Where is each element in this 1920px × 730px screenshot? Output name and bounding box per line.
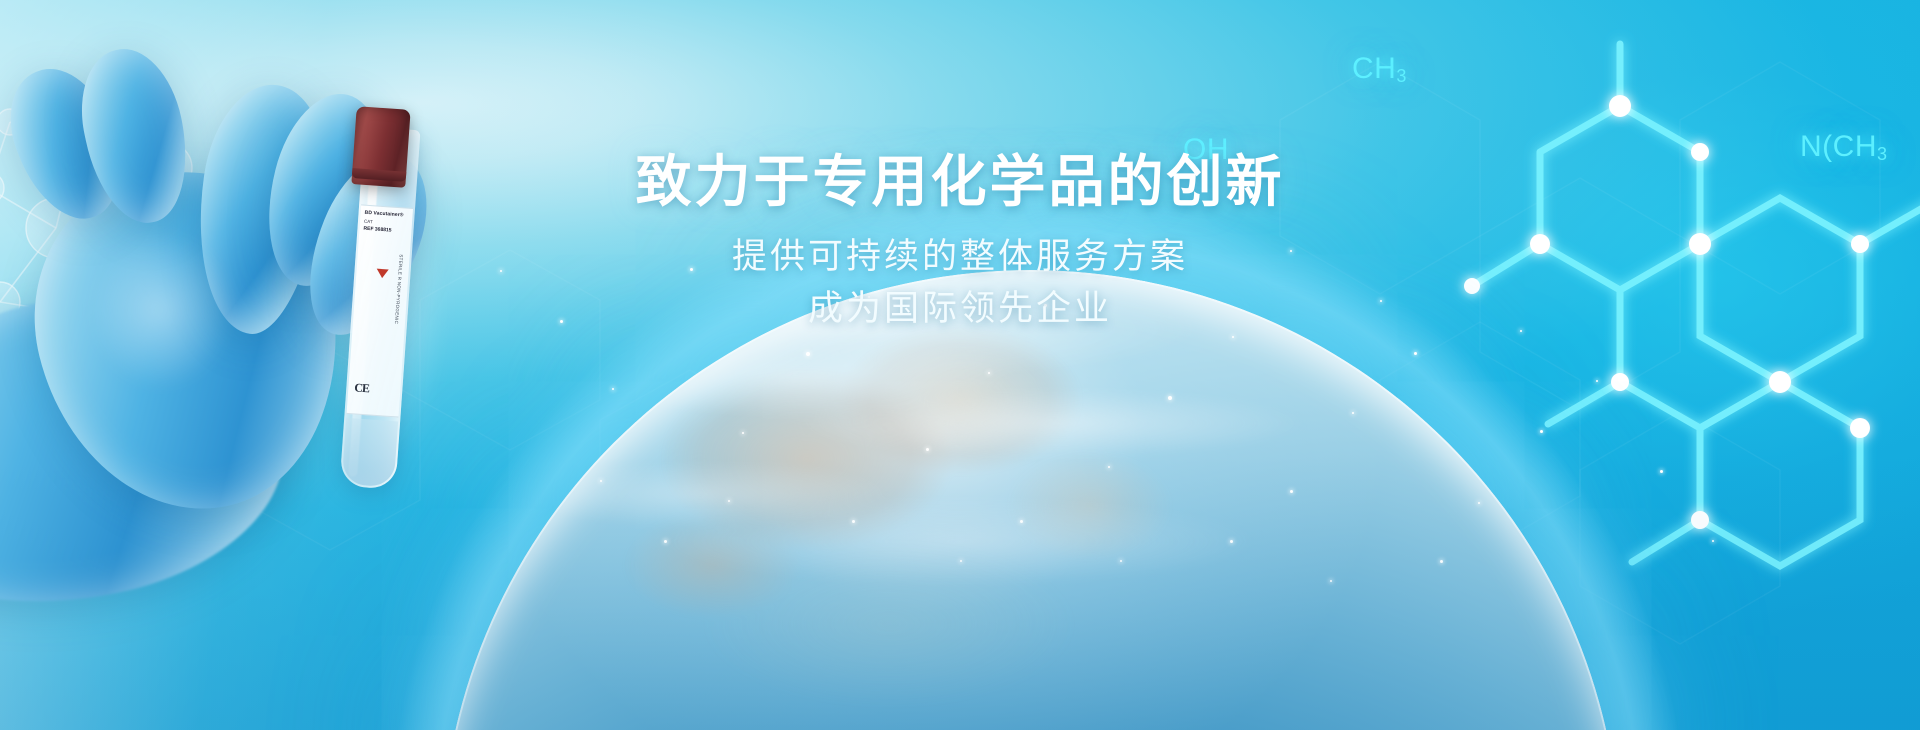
methyl-group-subscript: 3 <box>1396 66 1407 86</box>
methyl-group-text: CH <box>1352 52 1396 85</box>
methyl-group-label: CH3 <box>1352 52 1407 87</box>
page-title: 致力于专用化学品的创新 <box>0 150 1920 215</box>
hero-subtitle-line-2: 成为国际领先企业 <box>0 283 1920 336</box>
hero-banner: CH3 OH N(CH3 NH2 N(CH3)2 <box>0 0 1920 730</box>
hero-subtitle: 提供可持续的整体服务方案 成为国际领先企业 <box>0 231 1920 336</box>
hero-subtitle-line-1: 提供可持续的整体服务方案 <box>0 231 1920 284</box>
hero-copy: 致力于专用化学品的创新 提供可持续的整体服务方案 成为国际领先企业 <box>0 150 1920 336</box>
